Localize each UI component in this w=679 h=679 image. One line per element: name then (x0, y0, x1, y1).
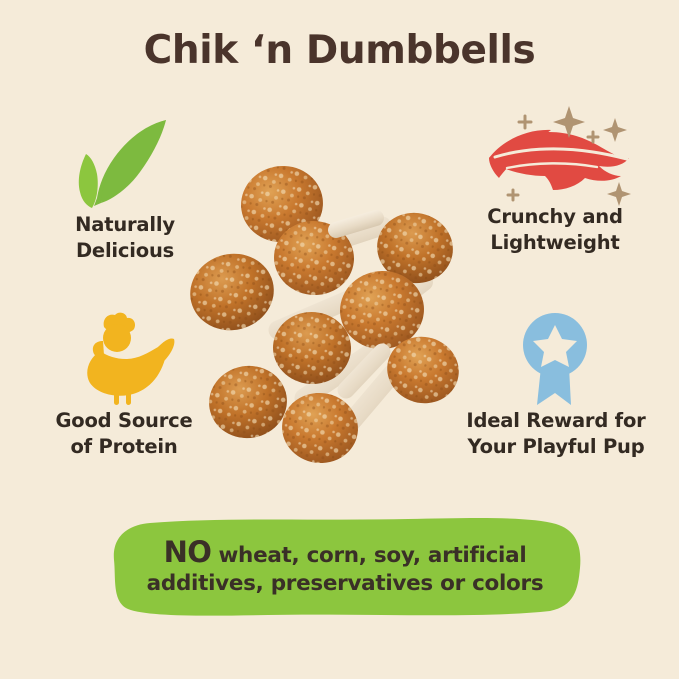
product-photo (186, 152, 486, 472)
banner-emphasis: NO (164, 535, 212, 569)
banner-line-1: NO wheat, corn, soy, artificial (164, 535, 527, 570)
banner-line-1-rest: wheat, corn, soy, artificial (211, 543, 526, 568)
product-infographic: Chik ‘n Dumbbells Naturally Delicious (0, 0, 679, 679)
banner-line-2: additives, preservatives or colors (147, 571, 544, 597)
banner-text: NO wheat, corn, soy, artificial additive… (108, 516, 582, 616)
page-title: Chik ‘n Dumbbells (0, 28, 679, 73)
no-ingredients-banner: NO wheat, corn, soy, artificial additive… (108, 516, 582, 616)
